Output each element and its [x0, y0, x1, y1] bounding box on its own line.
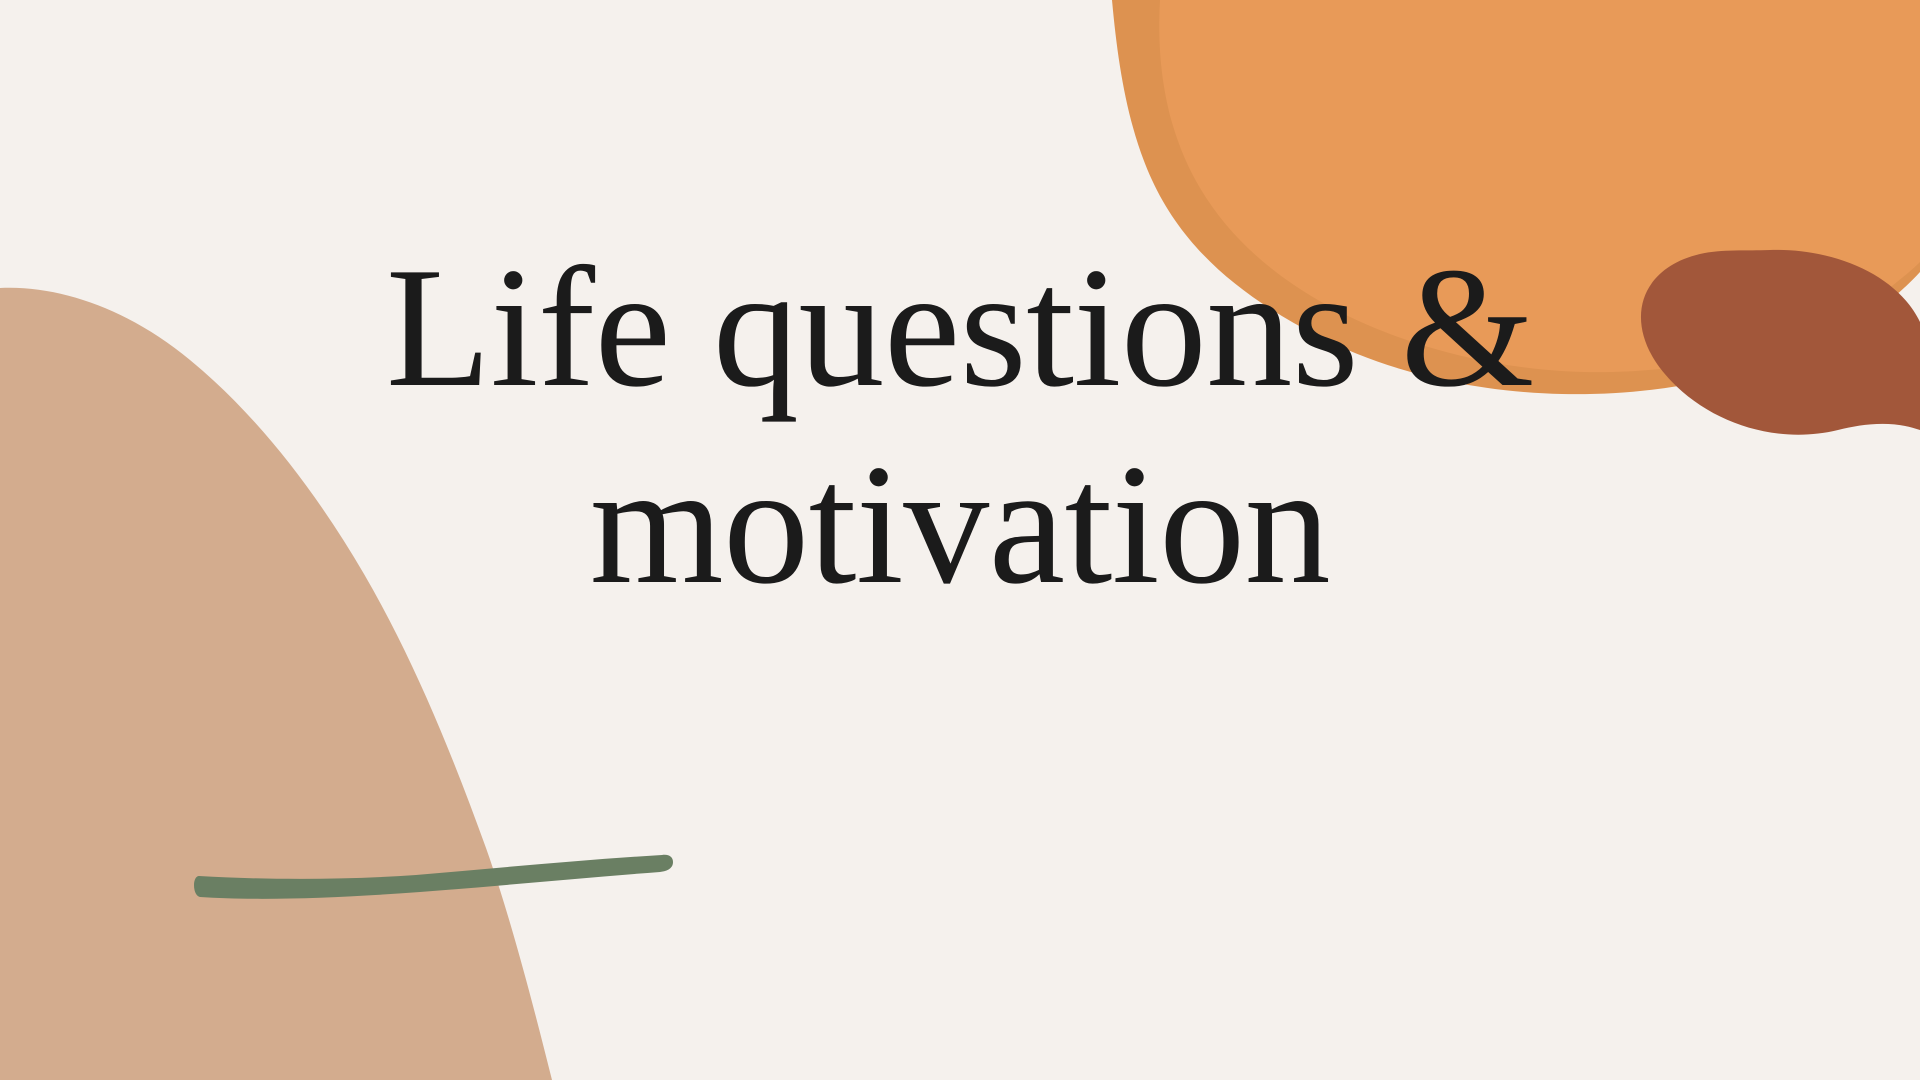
decorative-background [0, 0, 1920, 1080]
slide-canvas: Life questions & motivation [0, 0, 1920, 1080]
